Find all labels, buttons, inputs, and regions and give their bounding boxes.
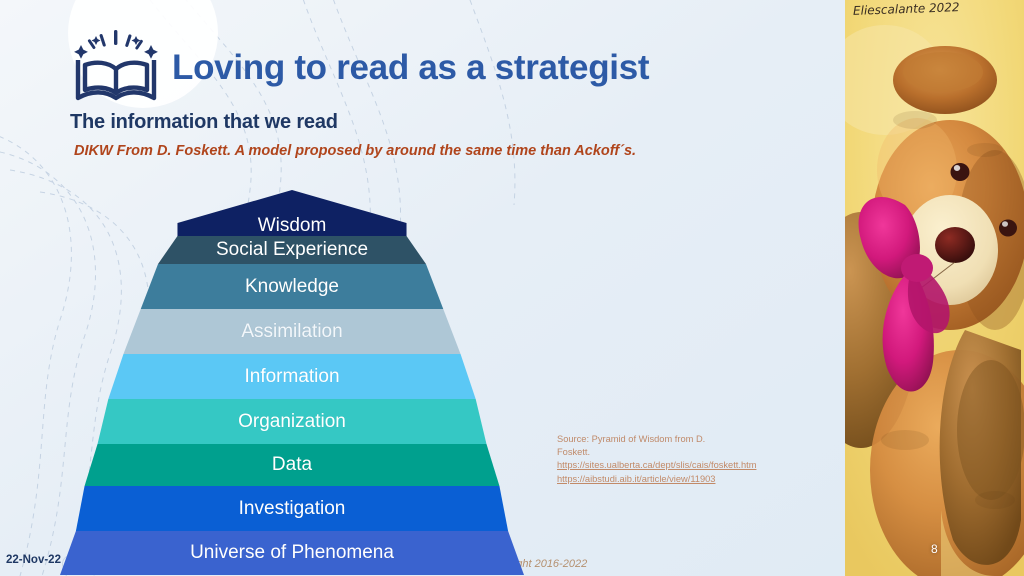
pyramid-level-label: Organization: [238, 411, 346, 433]
pyramid-level-social-experience: Social Experience: [0, 236, 600, 264]
page-title: Loving to read as a strategist: [172, 48, 649, 88]
pyramid-level-assimilation: Assimilation: [0, 309, 600, 354]
dikw-source-note: DIKW From D. Foskett. A model proposed b…: [74, 143, 636, 159]
pyramid-level-label: Knowledge: [245, 276, 339, 298]
pyramid-level-label: Investigation: [239, 498, 346, 520]
pyramid-level-wisdom: Wisdom: [0, 190, 600, 236]
pyramid-level-label: Social Experience: [216, 239, 368, 261]
page-number: 8: [931, 542, 938, 556]
pyramid-level-label: Assimilation: [241, 321, 342, 343]
pyramid-level-knowledge: Knowledge: [0, 264, 600, 309]
teddy-bear-painting: Eliescalante 2022 8: [845, 0, 1024, 576]
pyramid-level-universe-of-phenomena: Universe of Phenomena: [0, 531, 600, 575]
open-book-icon: [68, 28, 164, 106]
pyramid-level-label: Wisdom: [258, 215, 327, 237]
pyramid-level-information: Information: [0, 354, 600, 399]
pyramid-level-label: Information: [244, 366, 339, 388]
pyramid-level-organization: Organization: [0, 399, 600, 444]
pyramid-level-data: Data: [0, 444, 600, 486]
pyramid-level-label: Universe of Phenomena: [190, 542, 394, 564]
slide-subheading: The information that we read: [70, 111, 338, 134]
pyramid-level-investigation: Investigation: [0, 486, 600, 531]
pyramid-level-label: Data: [272, 454, 312, 476]
dikw-pyramid-chart: WisdomSocial ExperienceKnowledgeAssimila…: [0, 190, 600, 550]
slide-canvas: Loving to read as a strategist The infor…: [0, 0, 1024, 576]
